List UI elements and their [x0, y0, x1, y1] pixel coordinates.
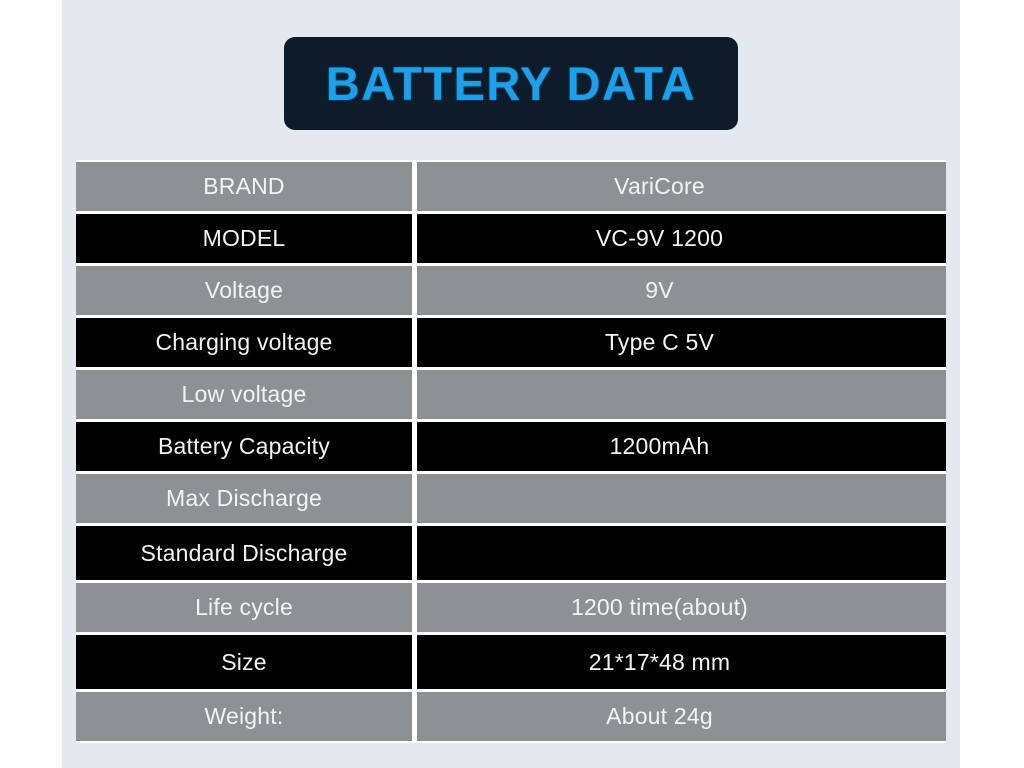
spec-value: 9V: [417, 266, 946, 315]
spec-value: About 24g: [417, 692, 946, 741]
table-row: Voltage9V: [76, 266, 946, 315]
spec-value: 21*17*48 mm: [417, 635, 946, 689]
table-row: Size21*17*48 mm: [76, 635, 946, 689]
spec-value-text: 1200mAh: [610, 433, 710, 460]
table-row: Low voltage: [76, 370, 946, 419]
spec-value-text: VC-9V 1200: [596, 225, 723, 252]
page-title: BATTERY DATA: [326, 60, 696, 107]
spec-value-text: VariCore: [614, 173, 705, 200]
table-row: Life cycle1200 time(about): [76, 583, 946, 632]
spec-value-text: Type C 5V: [605, 329, 714, 356]
spec-value-text: 1200 time(about): [571, 594, 748, 621]
spec-label: Charging voltage: [76, 318, 412, 367]
spec-label: Battery Capacity: [76, 422, 412, 471]
spec-label: BRAND: [76, 162, 412, 211]
spec-label: Standard Discharge: [76, 526, 412, 580]
table-row: MODELVC-9V 1200: [76, 214, 946, 263]
spec-value-text: About 24g: [606, 703, 713, 730]
table-row: Weight:About 24g: [76, 692, 946, 741]
table-row: Battery Capacity1200mAh: [76, 422, 946, 471]
table-row: Standard Discharge: [76, 526, 946, 580]
spec-value-text: 21*17*48 mm: [589, 649, 731, 676]
spec-label: Weight:: [76, 692, 412, 741]
specification-table: BRANDVariCoreMODELVC-9V 1200Voltage9VCha…: [76, 160, 946, 743]
spec-value: VariCore: [417, 162, 946, 211]
table-row: BRANDVariCore: [76, 162, 946, 211]
spec-label: MODEL: [76, 214, 412, 263]
spec-value: 1200 time(about): [417, 583, 946, 632]
page-title-banner: BATTERY DATA: [284, 37, 738, 130]
spec-label: Size: [76, 635, 412, 689]
spec-value: 1200mAh: [417, 422, 946, 471]
table-row: Max Discharge: [76, 474, 946, 523]
spec-label: Max Discharge: [76, 474, 412, 523]
spec-label: Low voltage: [76, 370, 412, 419]
spec-value: Type C 5V: [417, 318, 946, 367]
spec-label: Life cycle: [76, 583, 412, 632]
table-row: Charging voltageType C 5V: [76, 318, 946, 367]
spec-value: [417, 370, 946, 419]
spec-value: [417, 526, 946, 580]
spec-label: Voltage: [76, 266, 412, 315]
battery-spec-page: BATTERY DATA BRANDVariCoreMODELVC-9V 120…: [0, 0, 1024, 768]
spec-value-text: 9V: [645, 277, 674, 304]
spec-value: [417, 474, 946, 523]
spec-value: VC-9V 1200: [417, 214, 946, 263]
